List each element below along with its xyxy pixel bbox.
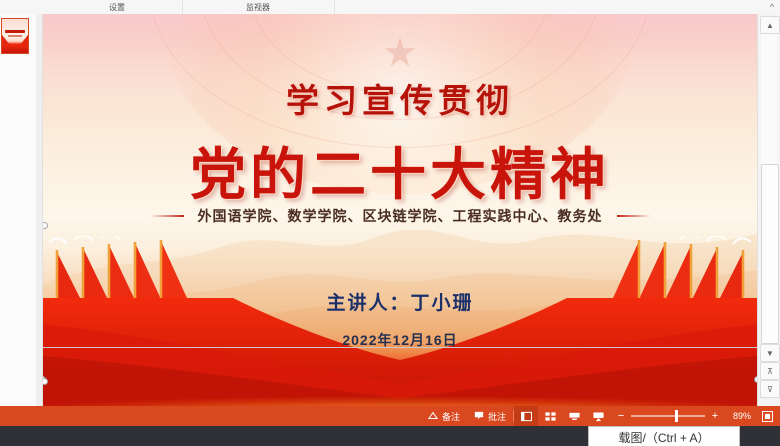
notes-button[interactable]: 备注	[421, 406, 467, 426]
wps-presentation-window: 设置 监视器 ^	[0, 0, 780, 446]
slide-eyebrow-text[interactable]: 学习宣传贯彻	[43, 74, 757, 122]
comment-bubble-icon	[474, 411, 485, 422]
zoom-percent-label: 89%	[725, 411, 751, 421]
thumb-title-bar	[5, 30, 25, 33]
double-caret-up-icon[interactable]: ⊼	[760, 362, 780, 380]
comments-label: 批注	[488, 410, 506, 423]
screenshot-tooltip: 载图/（Ctrl + A）	[588, 426, 740, 446]
slide-organizations-line[interactable]: 外国语学院、数学学院、区块链学院、工程实践中心、教务处	[43, 206, 757, 226]
view-reading-button[interactable]	[562, 406, 586, 426]
decorative-dash-left	[150, 215, 184, 217]
notes-icon	[428, 411, 439, 422]
red-drapery-decoration	[43, 298, 757, 416]
fit-to-window-icon	[762, 411, 773, 422]
notes-label: 备注	[442, 410, 460, 423]
view-sorter-button[interactable]	[538, 406, 562, 426]
fit-to-window-button[interactable]	[757, 406, 777, 426]
slide-thumbnail-pane[interactable]	[0, 14, 37, 420]
thumb-subtitle-bar	[8, 35, 22, 37]
normal-view-icon	[521, 411, 532, 422]
zoom-slider-track[interactable]	[631, 415, 705, 417]
tab-settings[interactable]: 设置	[52, 0, 183, 14]
caret-up-icon[interactable]: ▲	[760, 16, 780, 34]
slide-speaker-text[interactable]: 主讲人：丁小珊	[43, 288, 757, 315]
double-caret-down-icon[interactable]: ⊽	[760, 380, 780, 398]
scrollbar-thumb[interactable]	[761, 164, 779, 344]
star-watermark-icon	[383, 36, 417, 70]
slideshow-icon	[593, 411, 604, 422]
status-bar: 备注 批注	[0, 406, 780, 426]
comments-button[interactable]: 批注	[467, 406, 513, 426]
slide-thumbnail-1[interactable]	[1, 18, 29, 54]
ribbon-tab-strip: 设置 监视器 ^	[0, 0, 780, 15]
reading-view-icon	[569, 411, 580, 422]
slide-sorter-icon	[545, 411, 556, 422]
view-slideshow-button[interactable]	[586, 406, 610, 426]
view-normal-button[interactable]	[514, 406, 538, 426]
decorative-dash-right	[617, 215, 651, 217]
vertical-scrollbar[interactable]: ▲ ▼ ⊼ ⊽	[757, 14, 780, 420]
screenshot-tooltip-text: 载图/（Ctrl + A）	[618, 429, 709, 446]
chevron-up-icon[interactable]: ^	[770, 1, 774, 13]
tab-monitor[interactable]: 监视器	[182, 0, 335, 14]
tab-monitor-label: 监视器	[246, 2, 270, 13]
slide-canvas[interactable]: 学习宣传贯彻 党的二十大精神 外国语学院、数学学院、区块链学院、工程实践中心、教…	[43, 14, 758, 420]
slide-main-title[interactable]: 党的二十大精神	[43, 130, 757, 211]
slide-organizations-text: 外国语学院、数学学院、区块链学院、工程实践中心、教务处	[198, 206, 603, 226]
caret-down-icon[interactable]: ▼	[760, 344, 780, 362]
tab-empty[interactable]	[334, 0, 434, 14]
slide-surface[interactable]: 学习宣传贯彻 党的二十大精神 外国语学院、数学学院、区块链学院、工程实践中心、教…	[43, 14, 757, 416]
slide-date-text[interactable]: 2022年12月16日	[43, 330, 757, 350]
zoom-slider-knob[interactable]	[675, 410, 678, 422]
zoom-control[interactable]: − + 89%	[610, 411, 757, 422]
plus-icon[interactable]: +	[710, 411, 720, 422]
minus-icon[interactable]: −	[616, 411, 626, 422]
slide-thumbnail-preview	[2, 19, 28, 53]
taskbar-strip: 载图/（Ctrl + A）	[0, 426, 780, 446]
pane-splitter[interactable]	[36, 14, 43, 420]
tab-settings-label: 设置	[109, 2, 125, 13]
